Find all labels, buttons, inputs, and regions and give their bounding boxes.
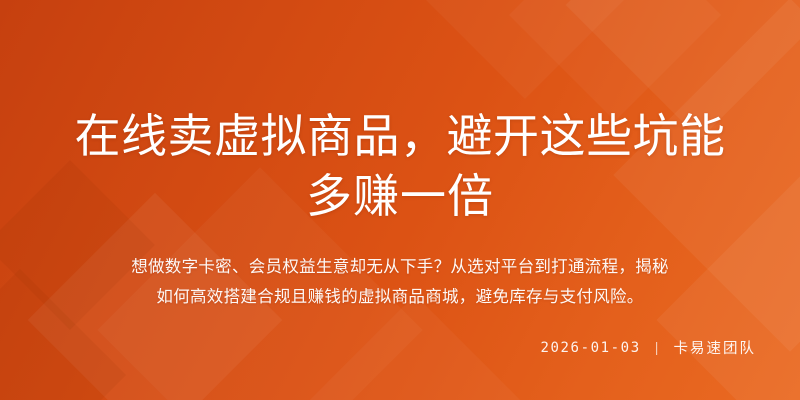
promo-banner: 在线卖虚拟商品，避开这些坑能 多赚一倍 想做数字卡密、会员权益生意却无从下手？从… — [0, 0, 800, 400]
team-name: 卡易速团队 — [674, 337, 757, 358]
subtitle-line-1: 想做数字卡密、会员权益生意却无从下手？从选对平台到打通流程，揭秘 — [72, 252, 728, 282]
headline: 在线卖虚拟商品，避开这些坑能 多赚一倍 — [56, 106, 744, 226]
footer-separator: | — [655, 339, 660, 355]
publish-date: 2026-01-03 — [540, 340, 640, 356]
headline-line-2: 多赚一倍 — [56, 166, 744, 226]
subtitle-line-2: 如何高效搭建合规且赚钱的虚拟商品商城，避免库存与支付风险。 — [72, 282, 728, 312]
headline-line-1: 在线卖虚拟商品，避开这些坑能 — [56, 106, 744, 166]
subtitle: 想做数字卡密、会员权益生意却无从下手？从选对平台到打通流程，揭秘 如何高效搭建合… — [56, 252, 744, 312]
banner-footer: 2026-01-03 | 卡易速团队 — [540, 337, 756, 358]
